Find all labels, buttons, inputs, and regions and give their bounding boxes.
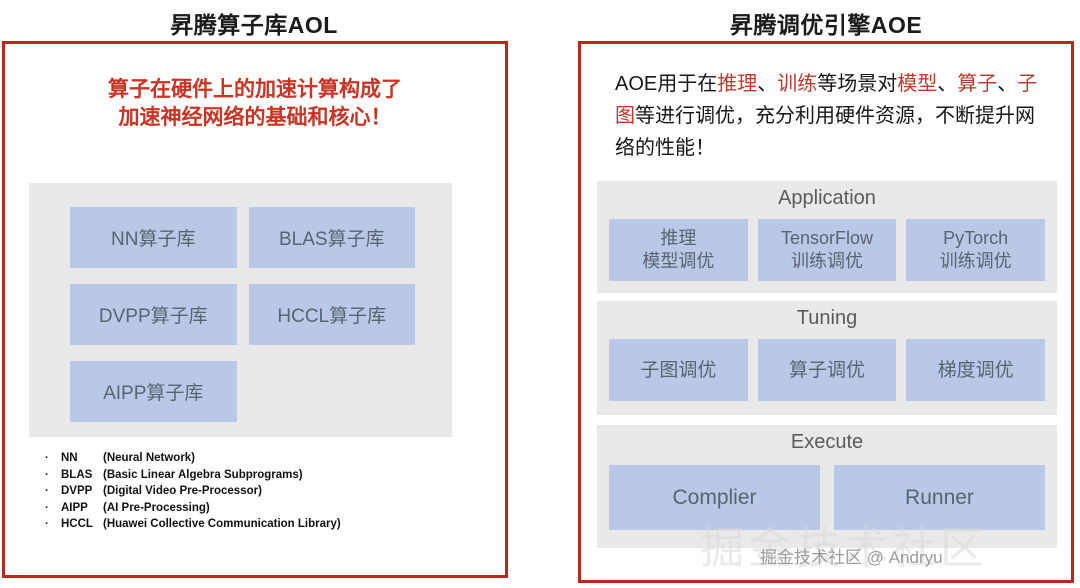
legend-full: (Digital Video Pre-Processor) [103, 483, 262, 500]
application-cards: 推理 模型调优 TensorFlow 训练调优 PyTorch 训练调优 [609, 219, 1045, 281]
list-item: · AIPP (AI Pre-Processing) [45, 500, 485, 517]
op-card-dvpp[interactable]: DVPP算子库 [70, 284, 237, 345]
abbreviation-legend: · NN (Neural Network) · BLAS (Basic Line… [45, 450, 485, 533]
legend-abbr: DVPP [61, 483, 103, 500]
legend-full: (Huawei Collective Communication Library… [103, 516, 341, 533]
aol-card-grid: NN算子库 BLAS算子库 DVPP算子库 HCCL算子库 AIPP算子库 [70, 207, 415, 422]
card-line-1: TensorFlow [781, 227, 873, 250]
legend-abbr: AIPP [61, 500, 103, 517]
card-line-1: 梯度调优 [938, 359, 1014, 382]
op-card-blas[interactable]: BLAS算子库 [249, 207, 416, 268]
intro-highlight-3: 训练 [777, 73, 817, 95]
execute-cards: Complier Runner [609, 465, 1045, 530]
op-card-nn[interactable]: NN算子库 [70, 207, 237, 268]
legend-abbr: HCCL [61, 516, 103, 533]
aol-headline-line-2: 加速神经网络的基础和核心！ [5, 104, 505, 132]
legend-full: (AI Pre-Processing) [103, 500, 210, 517]
aoe-intro-paragraph: AOE用于在推理、训练等场景对模型、算子、子图等进行调优，充分利用硬件资源，不断… [615, 68, 1045, 164]
aoe-panel: AOE用于在推理、训练等场景对模型、算子、子图等进行调优，充分利用硬件资源，不断… [578, 41, 1074, 583]
card-line-2: 训练调优 [940, 250, 1012, 273]
op-card-aipp[interactable]: AIPP算子库 [70, 361, 237, 422]
intro-text-10: 等进行调优，充分利用硬件资源，不断提升网络的性能！ [615, 105, 1035, 159]
legend-abbr: BLAS [61, 467, 103, 484]
intro-highlight-7: 算子 [957, 73, 997, 95]
execute-card-runner[interactable]: Runner [834, 465, 1045, 530]
legend-abbr: NN [61, 450, 103, 467]
bullet-icon: · [45, 467, 61, 484]
bullet-icon: · [45, 516, 61, 533]
intro-text-0: AOE用于在 [615, 73, 717, 95]
intro-text-8: 、 [997, 73, 1017, 95]
app-card-inference[interactable]: 推理 模型调优 [609, 219, 748, 281]
card-line-2: 训练调优 [791, 250, 863, 273]
card-line-1: 算子调优 [789, 359, 865, 382]
intro-text-2: 、 [757, 73, 777, 95]
intro-highlight-5: 模型 [897, 73, 937, 95]
list-item: · NN (Neural Network) [45, 450, 485, 467]
op-card-hccl[interactable]: HCCL算子库 [249, 284, 416, 345]
card-line-2: 模型调优 [642, 250, 714, 273]
left-panel-title: 昇腾算子库AOL [0, 6, 508, 40]
section-label-execute: Execute [597, 431, 1057, 454]
list-item: · HCCL (Huawei Collective Communication … [45, 516, 485, 533]
aol-panel: 算子在硬件上的加速计算构成了 加速神经网络的基础和核心！ NN算子库 BLAS算… [2, 41, 508, 578]
intro-text-4: 等场景对 [817, 73, 897, 95]
execute-card-complier[interactable]: Complier [609, 465, 820, 530]
tuning-cards: 子图调优 算子调优 梯度调优 [609, 339, 1045, 401]
tuning-card-gradient[interactable]: 梯度调优 [906, 339, 1045, 401]
card-line-1: PyTorch [943, 227, 1008, 250]
app-card-tensorflow[interactable]: TensorFlow 训练调优 [758, 219, 897, 281]
section-application: Application 推理 模型调优 TensorFlow 训练调优 PyTo… [597, 181, 1057, 293]
bullet-icon: · [45, 483, 61, 500]
intro-text-6: 、 [937, 73, 957, 95]
aol-headline-line-1: 算子在硬件上的加速计算构成了 [5, 76, 505, 104]
intro-highlight-1: 推理 [717, 73, 757, 95]
bullet-icon: · [45, 450, 61, 467]
card-line-1: 子图调优 [640, 359, 716, 382]
list-item: · DVPP (Digital Video Pre-Processor) [45, 483, 485, 500]
card-line-1: Complier [672, 486, 756, 509]
legend-full: (Basic Linear Algebra Subprograms) [103, 467, 303, 484]
legend-full: (Neural Network) [103, 450, 195, 467]
section-label-application: Application [597, 187, 1057, 210]
aol-headline: 算子在硬件上的加速计算构成了 加速神经网络的基础和核心！ [5, 76, 505, 132]
list-item: · BLAS (Basic Linear Algebra Subprograms… [45, 467, 485, 484]
section-label-tuning: Tuning [597, 307, 1057, 330]
card-line-1: 推理 [660, 227, 696, 250]
bullet-icon: · [45, 500, 61, 517]
section-execute: Execute Complier Runner [597, 425, 1057, 548]
card-line-1: Runner [905, 486, 974, 509]
aol-operator-library-group: NN算子库 BLAS算子库 DVPP算子库 HCCL算子库 AIPP算子库 [29, 183, 452, 437]
app-card-pytorch[interactable]: PyTorch 训练调优 [906, 219, 1045, 281]
right-panel-title: 昇腾调优引擎AOE [578, 6, 1074, 40]
section-tuning: Tuning 子图调优 算子调优 梯度调优 [597, 301, 1057, 415]
tuning-card-operator[interactable]: 算子调优 [758, 339, 897, 401]
tuning-card-subgraph[interactable]: 子图调优 [609, 339, 748, 401]
